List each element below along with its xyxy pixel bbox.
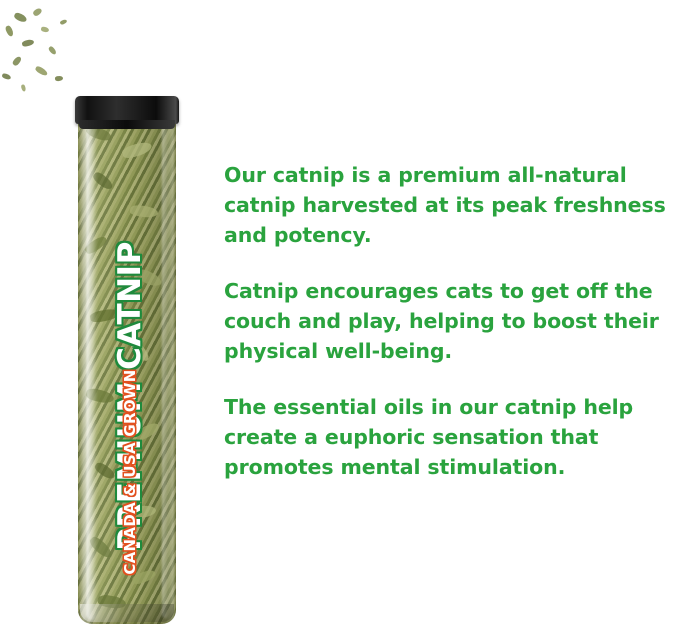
product-photo-region: PREMIUM CATNIP CANADA & USA GROWN <box>0 0 220 643</box>
catnip-flake <box>4 25 14 38</box>
tube-base <box>80 604 174 622</box>
tube-cap-lip <box>79 120 175 129</box>
copy-paragraph-2: Catnip encourages cats to get off the co… <box>224 276 674 366</box>
herb-texture <box>129 204 158 219</box>
catnip-flake <box>41 26 50 33</box>
tube-highlight-left <box>86 116 97 620</box>
herb-texture <box>125 504 156 519</box>
herb-texture <box>131 568 157 586</box>
catnip-flake <box>1 73 11 81</box>
catnip-flake <box>32 7 43 17</box>
herb-texture <box>133 421 161 443</box>
tube-highlight-right <box>162 118 168 618</box>
catnip-flake <box>55 75 64 81</box>
copy-paragraph-1: Our catnip is a premium all-natural catn… <box>224 160 674 250</box>
catnip-flake <box>34 65 48 77</box>
catnip-flake <box>21 84 27 92</box>
herb-texture <box>135 267 164 289</box>
herb-texture <box>121 140 153 160</box>
catnip-tube: PREMIUM CATNIP CANADA & USA GROWN <box>78 96 176 624</box>
catnip-flake <box>21 39 34 48</box>
catnip-flake <box>13 12 28 24</box>
product-marketing-image: PREMIUM CATNIP CANADA & USA GROWN Our ca… <box>0 0 679 643</box>
catnip-flake <box>59 19 67 26</box>
catnip-flake <box>48 45 58 55</box>
herb-texture <box>129 338 152 363</box>
copy-paragraph-3: The essential oils in our catnip help cr… <box>224 392 674 482</box>
marketing-copy: Our catnip is a premium all-natural catn… <box>224 160 674 482</box>
catnip-flake <box>12 55 23 67</box>
